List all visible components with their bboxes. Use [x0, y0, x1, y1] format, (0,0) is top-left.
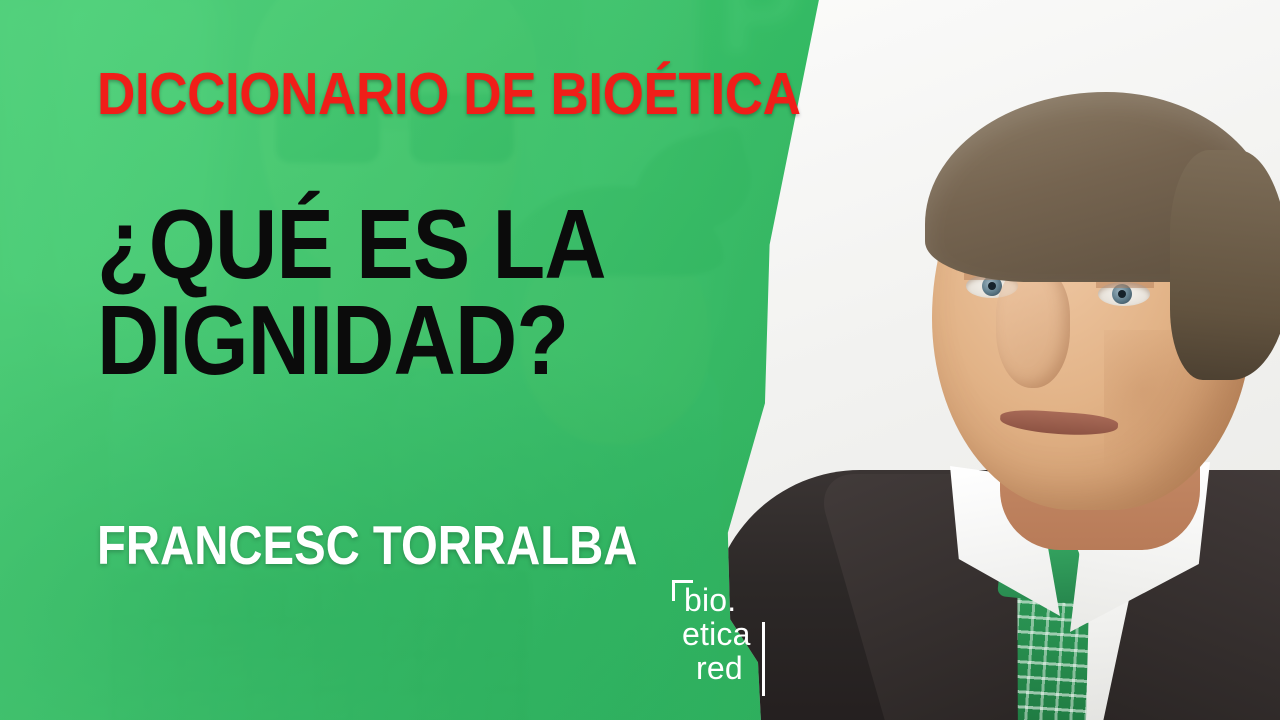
logo-line-bio: bio. — [682, 584, 751, 618]
video-thumbnail: DICCIONARIO DE BIOÉTICA ¿QUÉ ES LA DIGNI… — [0, 0, 1280, 720]
headline: ¿QUÉ ES LA DIGNIDAD? — [97, 196, 606, 388]
logo-wordmark: bio. etica red — [682, 584, 751, 686]
headline-line-1: ¿QUÉ ES LA — [97, 189, 606, 299]
headline-line-2: DIGNIDAD? — [97, 292, 606, 388]
pupil-left — [988, 282, 996, 290]
logo-vertical-bar-icon — [762, 622, 765, 696]
nose — [996, 268, 1070, 388]
speaker-name: FRANCESC TORRALBA — [97, 513, 637, 577]
logo-line-etica: etica — [682, 618, 751, 652]
bioetica-red-logo[interactable]: bio. etica red — [668, 578, 778, 706]
series-title: DICCIONARIO DE BIOÉTICA — [97, 64, 801, 126]
hair-side — [1170, 150, 1280, 380]
logo-line-red: red — [682, 652, 751, 686]
pupil-right — [1118, 290, 1126, 298]
